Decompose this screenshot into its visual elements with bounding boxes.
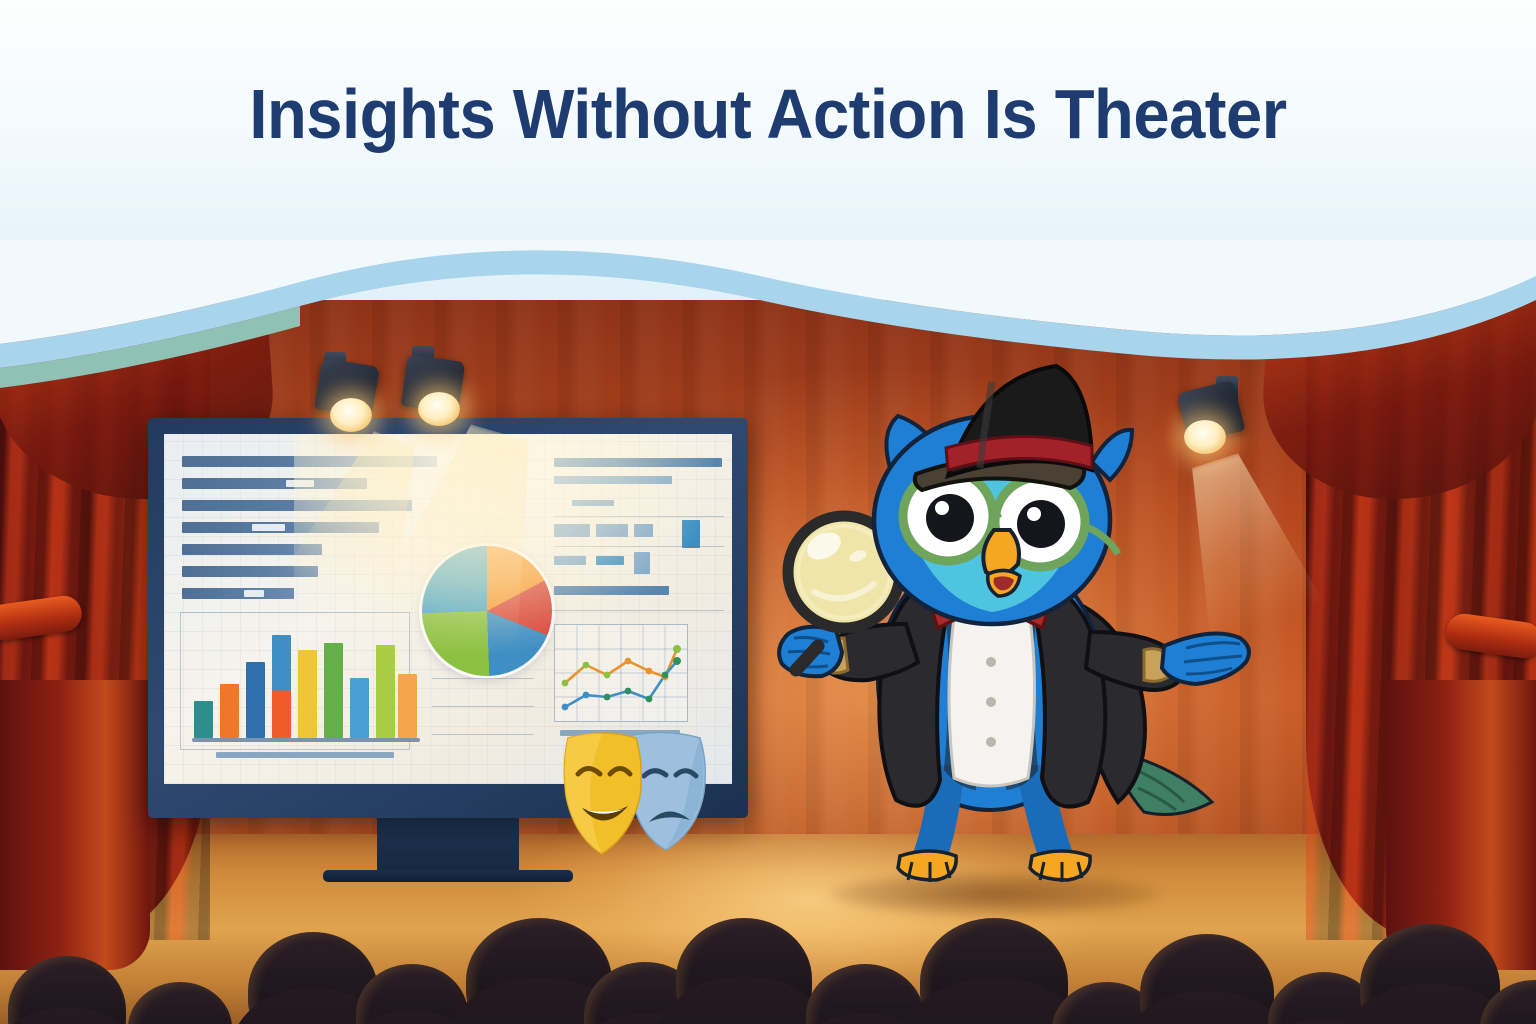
placeholder-row [182,588,294,599]
kpi-divider [554,516,724,517]
bar [220,684,239,738]
kpi-divider [554,546,724,547]
panel-divider [432,678,534,679]
owl-head [874,366,1132,624]
bar-chart-baseline [192,738,420,742]
kpi-cell [596,556,624,565]
bar [246,662,265,738]
kpi-cell [634,524,653,537]
audience-head [676,918,812,1024]
kpi-accent-block [682,520,700,548]
illustration-canvas: Insights Without Action Is Theater [0,0,1536,1024]
bar-chart-caption [216,752,394,758]
page-title: Insights Without Action Is Theater [54,74,1482,154]
panel-divider [432,706,534,707]
audience-silhouettes [0,824,1536,1024]
panel-divider [432,734,534,735]
spotlight-lens [418,392,460,426]
bar [376,645,395,738]
owl-beak [983,530,1019,576]
kpi-footer-bar [554,586,669,595]
audience-head [1360,924,1500,1024]
kpi-cell [554,524,590,537]
bar-stacked [272,635,291,738]
audience-head [806,964,924,1024]
spotlight-lens [330,398,372,432]
kpi-cell [554,556,586,565]
kpi-label [572,500,614,506]
audience-head [920,918,1068,1024]
bar [324,643,343,738]
placeholder-gap [252,524,285,531]
kpi-subheader-bar [554,476,672,484]
dashboard-bar-chart [192,630,398,738]
kpi-cell [596,524,628,537]
audience-head [1140,934,1274,1024]
theater-stage-scene [0,300,1536,1024]
line-chart-frame [554,624,688,722]
placeholder-gap [286,480,314,487]
placeholder-gap [244,590,264,597]
bar [298,650,317,738]
dashboard-line-chart [555,625,687,721]
audience-head [128,982,232,1024]
bar [398,674,417,738]
kpi-header-bar [554,458,722,467]
owl-right-wing [1086,632,1249,690]
kpi-cell [634,552,650,574]
bar [350,678,369,738]
bar [194,701,213,738]
kpi-divider [542,610,724,611]
audience-head [8,956,126,1024]
